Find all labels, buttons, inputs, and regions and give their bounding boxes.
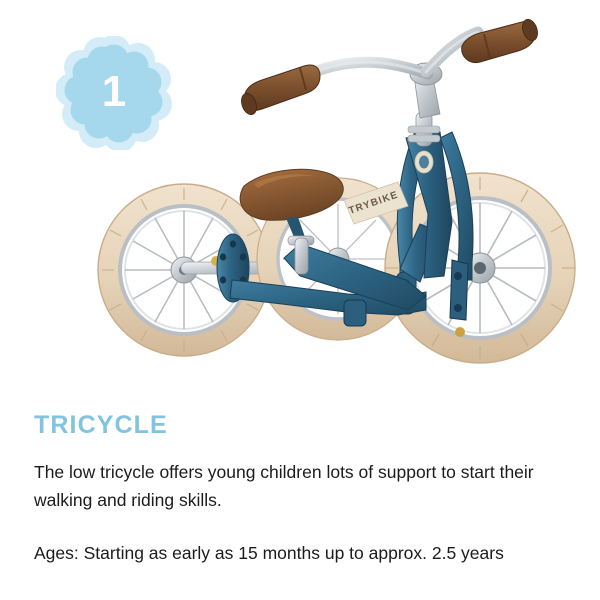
step-number-badge: 1 bbox=[56, 36, 172, 150]
handlebar bbox=[294, 32, 478, 82]
product-description: The low tricycle offers young children l… bbox=[34, 440, 566, 515]
product-title: TRICYCLE bbox=[34, 400, 566, 440]
product-text-block: TRICYCLE The low tricycle offers young c… bbox=[0, 400, 600, 567]
right-grip bbox=[462, 17, 540, 62]
footrest-bracket bbox=[344, 300, 366, 326]
product-card: TRYBIKE bbox=[0, 0, 600, 600]
product-ages: Ages: Starting as early as 15 months up … bbox=[34, 515, 566, 567]
left-grip bbox=[239, 65, 320, 117]
seat-post bbox=[295, 238, 308, 274]
product-hero: TRYBIKE bbox=[0, 0, 600, 400]
step-number-text: 1 bbox=[56, 36, 172, 150]
